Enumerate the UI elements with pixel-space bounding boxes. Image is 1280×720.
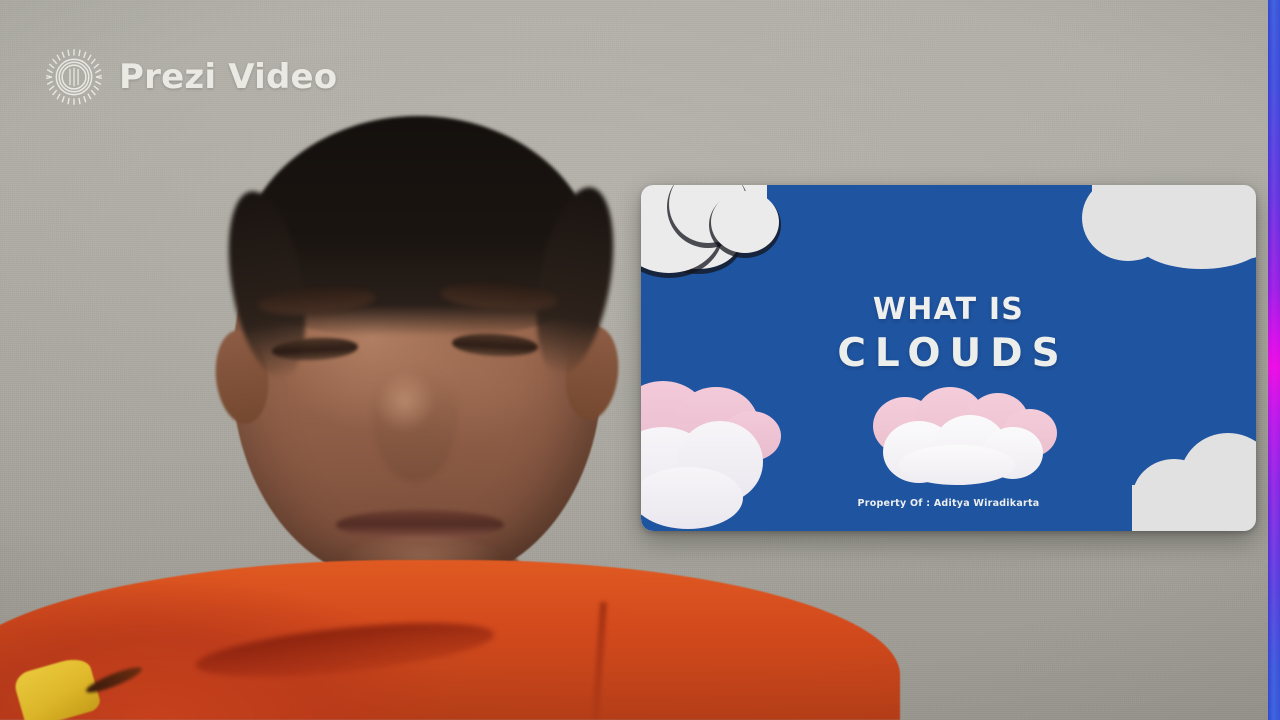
cloud-top-left: [641, 185, 777, 265]
prezi-video-watermark: Prezi Video: [45, 48, 337, 106]
slide-canvas: WHAT IS CLOUDS Property Of : Aditya Wira…: [641, 185, 1256, 531]
cloud-top-right: [1082, 185, 1256, 275]
accent-bar-gloss: [1268, 0, 1280, 720]
presentation-slide-card[interactable]: WHAT IS CLOUDS Property Of : Aditya Wira…: [641, 185, 1256, 531]
prezi-video-wordmark: Prezi Video: [119, 60, 337, 94]
slide-title-line-1: WHAT IS: [641, 295, 1256, 325]
slide-title-line-2: CLOUDS: [641, 334, 1256, 373]
prezi-video-stage: Prezi Video: [0, 0, 1280, 720]
slide-title-block: WHAT IS CLOUDS: [641, 295, 1256, 373]
slide-credit-text: Property Of : Aditya Wiradikarta: [641, 498, 1256, 509]
prezi-sunburst-icon: [45, 48, 103, 106]
cloud-bottom-right: [1132, 431, 1256, 531]
prezi-accent-gradient-bar: [1268, 0, 1280, 720]
cloud-center: [869, 393, 1059, 487]
